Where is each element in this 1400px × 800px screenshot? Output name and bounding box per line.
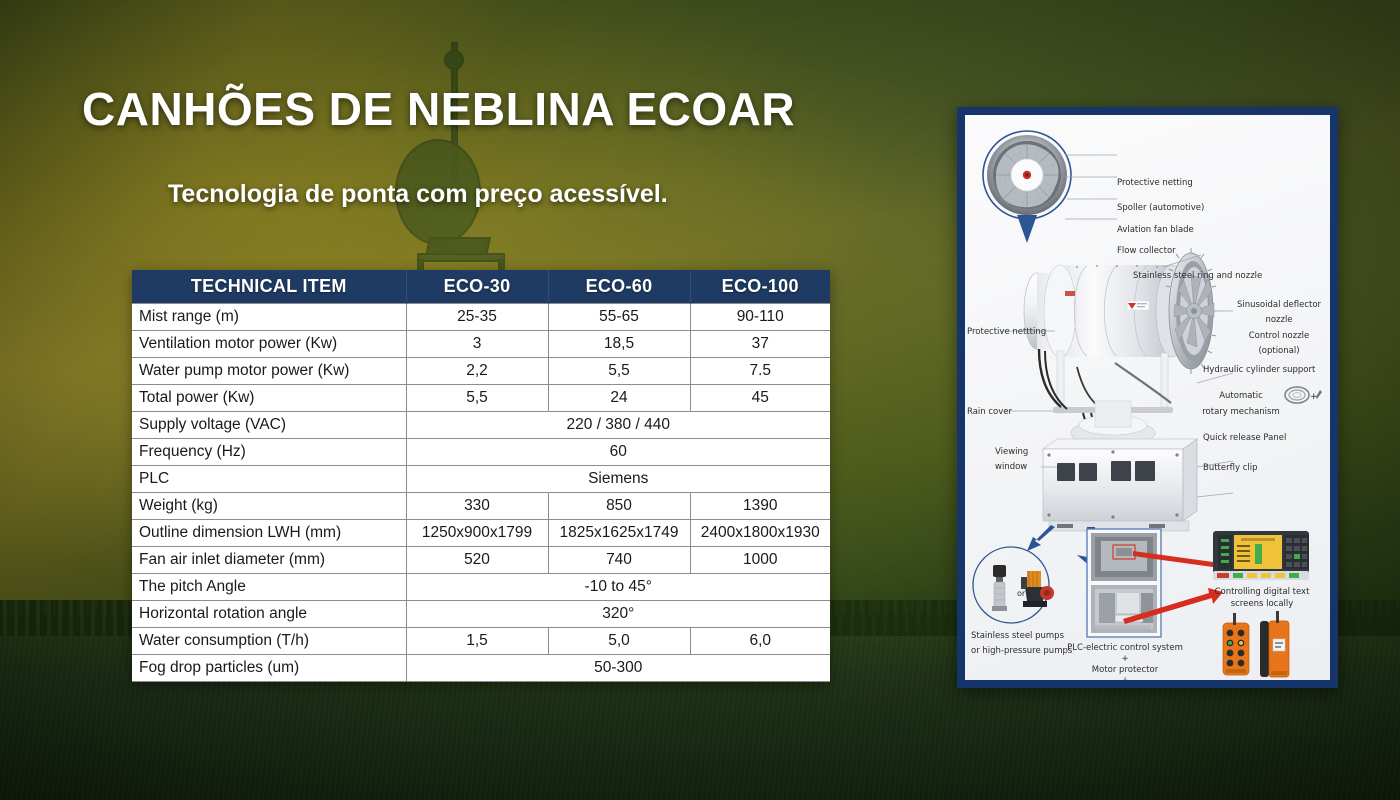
leader-lines-top: [1065, 155, 1117, 219]
table-cell-label: Fan air inlet diameter (mm): [132, 546, 406, 573]
label-controlling-line1: Controlling digital text: [1203, 587, 1321, 597]
table-cell-value: 5,0: [548, 627, 690, 654]
table-row: Fan air inlet diameter (mm)5207401000: [132, 546, 830, 573]
table-cell-label: Total power (Kw): [132, 384, 406, 411]
label-plus-2: +: [1061, 676, 1189, 680]
table-row: PLCSiemens: [132, 465, 830, 492]
remote-controls: [1223, 611, 1289, 677]
control-cabinet-box: [1043, 439, 1197, 531]
table-cell-value: 45: [690, 384, 830, 411]
page-subtitle: Tecnologia de ponta com preço acessível.: [168, 180, 668, 209]
table-cell-value-merged: 60: [406, 438, 830, 465]
table-cell-label: Ventilation motor power (Kw): [132, 330, 406, 357]
table-cell-value: 330: [406, 492, 548, 519]
label-controlling-line2: screens locally: [1203, 599, 1321, 609]
table-cell-value: 1390: [690, 492, 830, 519]
table-cell-value: 1250x900x1799: [406, 519, 548, 546]
table-row: Frequency (Hz)60: [132, 438, 830, 465]
table-header-eco100: ECO-100: [690, 270, 830, 303]
table-cell-value: 6,0: [690, 627, 830, 654]
table-row: Ventilation motor power (Kw)318,537: [132, 330, 830, 357]
table-row: Total power (Kw)5,52445: [132, 384, 830, 411]
label-spoller: Spoller (automotive): [1117, 203, 1204, 213]
table-cell-value: 37: [690, 330, 830, 357]
label-stainless-ring-nozzle: Stainless steel ring and nozzle: [1133, 271, 1262, 281]
table-row: Fog drop particles (um)50-300: [132, 654, 830, 681]
label-stainless-pumps-line2: or high-pressure pumps: [971, 646, 1072, 656]
label-plus-1: +: [1061, 654, 1189, 664]
table-cell-value: 2,2: [406, 357, 548, 384]
table-cell-value: 24: [548, 384, 690, 411]
table-cell-value: 90-110: [690, 303, 830, 330]
page-title: CANHÕES DE NEBLINA ECOAR: [82, 82, 795, 136]
table-cell-value: 850: [548, 492, 690, 519]
table-cell-value: 55-65: [548, 303, 690, 330]
label-hydraulic-cylinder-support: Hydraulic cylinder support: [1203, 365, 1315, 375]
label-quick-release-panel: Quick release Panel: [1203, 433, 1286, 443]
table-cell-label: Frequency (Hz): [132, 438, 406, 465]
table-cell-label: Mist range (m): [132, 303, 406, 330]
label-nozzle: nozzle: [1231, 315, 1327, 325]
table-cell-value: 1000: [690, 546, 830, 573]
label-automatic: Automatic: [1201, 391, 1281, 401]
label-butterfly-clip: Butterfly clip: [1203, 463, 1258, 473]
table-row: Supply voltage (VAC)220 / 380 / 440: [132, 411, 830, 438]
table-cell-value-merged: 220 / 380 / 440: [406, 411, 830, 438]
table-cell-label: Fog drop particles (um): [132, 654, 406, 681]
table-row: Water consumption (T/h)1,55,06,0: [132, 627, 830, 654]
hmi-panel: [1213, 531, 1309, 580]
pumps-inset: or: [973, 547, 1054, 623]
technical-spec-table: TECHNICAL ITEM ECO-30 ECO-60 ECO-100 Mis…: [132, 270, 830, 682]
product-diagram-panel: or: [957, 107, 1338, 688]
table-cell-value-merged: 320°: [406, 600, 830, 627]
label-plc-system: PLC-electric control system: [1061, 643, 1189, 653]
fan-closeup-inset: [983, 131, 1071, 243]
table-cell-value-merged: Siemens: [406, 465, 830, 492]
svg-text:or: or: [1017, 589, 1026, 598]
label-sinusoidal-deflector: Sinusoidal deflector: [1231, 300, 1327, 310]
label-aviation-fan-blade: Avlation fan blade: [1117, 225, 1194, 235]
table-cell-value: 7.5: [690, 357, 830, 384]
table-cell-label: Supply voltage (VAC): [132, 411, 406, 438]
table-cell-value: 2400x1800x1930: [690, 519, 830, 546]
label-protective-netting-left: Protective nettting: [967, 327, 1046, 337]
table-cell-label: Horizontal rotation angle: [132, 600, 406, 627]
label-window: window: [995, 462, 1027, 472]
label-stainless-pumps-line1: Stainless steel pumps: [971, 631, 1064, 641]
table-cell-value: 5,5: [406, 384, 548, 411]
table-row: Mist range (m)25-3555-6590-110: [132, 303, 830, 330]
table-header-row: TECHNICAL ITEM ECO-30 ECO-60 ECO-100: [132, 270, 830, 303]
table-cell-value-merged: -10 to 45°: [406, 573, 830, 600]
rotary-mechanism-icon: +: [1283, 383, 1323, 407]
table-header-eco30: ECO-30: [406, 270, 548, 303]
table-cell-label: Water pump motor power (Kw): [132, 357, 406, 384]
table-row: The pitch Angle-10 to 45°: [132, 573, 830, 600]
label-rain-cover: Rain cover: [967, 407, 1012, 417]
table-cell-value: 520: [406, 546, 548, 573]
table-row: Outline dimension LWH (mm)1250x900x17991…: [132, 519, 830, 546]
table-cell-value: 25-35: [406, 303, 548, 330]
table-cell-value: 1825x1625x1749: [548, 519, 690, 546]
label-flow-collector: Flow collector: [1117, 246, 1176, 256]
table-row: Water pump motor power (Kw)2,25,57.5: [132, 357, 830, 384]
label-viewing: Viewing: [995, 447, 1028, 457]
table-header-item: TECHNICAL ITEM: [132, 270, 406, 303]
table-row: Weight (kg)3308501390: [132, 492, 830, 519]
table-cell-value: 3: [406, 330, 548, 357]
table-cell-value: 18,5: [548, 330, 690, 357]
table-cell-label: PLC: [132, 465, 406, 492]
label-control-nozzle: Control nozzle: [1231, 331, 1327, 341]
table-cell-value: 5,5: [548, 357, 690, 384]
label-rotary-mechanism: rotary mechanism: [1193, 407, 1289, 417]
table-cell-label: Water consumption (T/h): [132, 627, 406, 654]
label-optional: (optional): [1231, 346, 1327, 356]
table-cell-label: Weight (kg): [132, 492, 406, 519]
table-cell-value: 740: [548, 546, 690, 573]
table-cell-label: The pitch Angle: [132, 573, 406, 600]
label-motor-protector: Motor protector: [1061, 665, 1189, 675]
table-cell-value-merged: 50-300: [406, 654, 830, 681]
table-cell-value: 1,5: [406, 627, 548, 654]
label-protective-netting-top: Protective netting: [1117, 178, 1193, 188]
table-cell-label: Outline dimension LWH (mm): [132, 519, 406, 546]
table-body: Mist range (m)25-3555-6590-110Ventilatio…: [132, 303, 830, 681]
table-header-eco60: ECO-60: [548, 270, 690, 303]
table-row: Horizontal rotation angle320°: [132, 600, 830, 627]
